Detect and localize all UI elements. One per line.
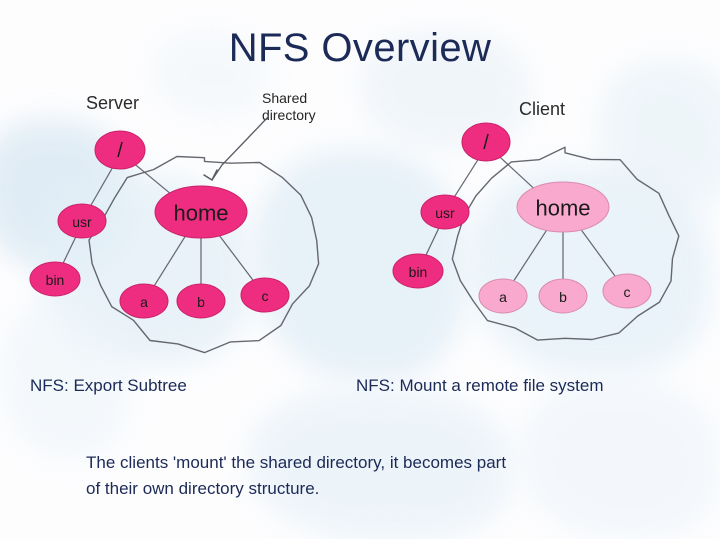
tree-edge-server-home-c [216,232,254,282]
node-server-usr[interactable]: usr [58,204,106,238]
node-server-b[interactable]: b [177,284,225,318]
node-server-c[interactable]: c [241,278,289,312]
tree-edge-client-home-a [513,227,549,282]
node-client-bin[interactable]: bin [393,254,443,288]
node-server-a[interactable]: a [120,284,168,318]
node-label: home [173,201,228,226]
node-label: a [499,289,507,305]
leader-arrow-icon [204,117,268,180]
node-client-root[interactable]: / [462,123,510,161]
tree-edge-client-usr-bin [426,227,440,256]
node-client-b[interactable]: b [539,279,587,313]
node-label: b [559,289,567,305]
footnote-line-1: The clients 'mount' the shared directory… [86,450,656,476]
node-client-c[interactable]: c [603,274,651,308]
footnote-line-2: of their own directory structure. [86,476,656,502]
tree-edge-client-root-home [496,154,536,191]
node-server-root[interactable]: / [95,131,145,169]
tree-edge-server-home-a [154,233,188,287]
tree-edge-client-root-usr [454,158,479,198]
tree-edge-client-home-c [578,226,616,278]
node-label: usr [435,205,455,221]
slide-canvas: NFS Overview Server Client Shared direct… [0,0,720,539]
node-label: c [262,288,269,304]
caption-mount-remote: NFS: Mount a remote file system [356,376,604,396]
node-client-a[interactable]: a [479,279,527,313]
node-label: c [624,284,631,300]
node-label: a [140,294,148,310]
tree-edge-server-root-usr [91,166,114,206]
node-label: / [117,140,123,162]
node-label: bin [46,272,65,288]
footnote-text: The clients 'mount' the shared directory… [86,450,656,502]
node-server-home[interactable]: home [155,186,247,238]
shared-directory-loops [89,147,679,352]
node-label: / [483,132,489,154]
node-client-home[interactable]: home [517,182,609,232]
tree-edge-server-usr-bin [63,236,77,264]
node-label: usr [72,214,92,230]
tree-edge-server-root-home [131,161,174,196]
node-server-bin[interactable]: bin [30,262,80,296]
tree-nodes: /usrbinhomeabc/usrbinhomeabc [30,123,651,318]
node-label: home [535,196,590,221]
node-label: b [197,294,205,310]
node-client-usr[interactable]: usr [421,195,469,229]
node-label: bin [409,264,428,280]
caption-export-subtree: NFS: Export Subtree [30,376,187,396]
